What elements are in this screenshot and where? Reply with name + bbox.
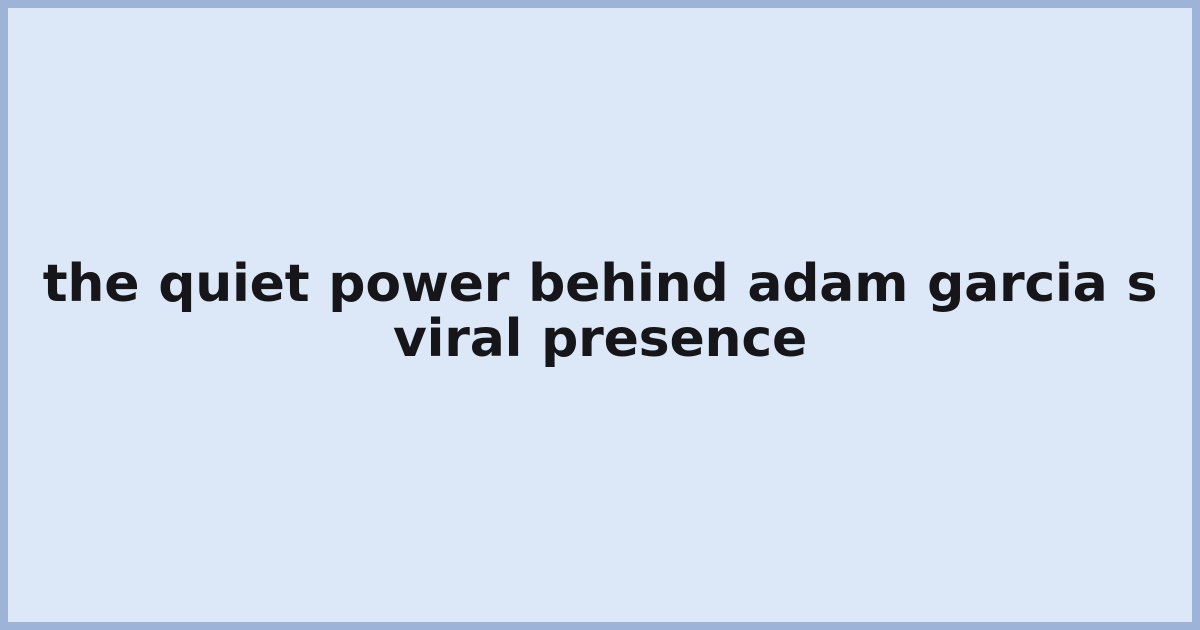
og-image-card: the quiet power behind adam garcia s vir…	[0, 0, 1200, 630]
page-title: the quiet power behind adam garcia s vir…	[22, 257, 1178, 367]
card-content-area: the quiet power behind adam garcia s vir…	[8, 8, 1192, 622]
